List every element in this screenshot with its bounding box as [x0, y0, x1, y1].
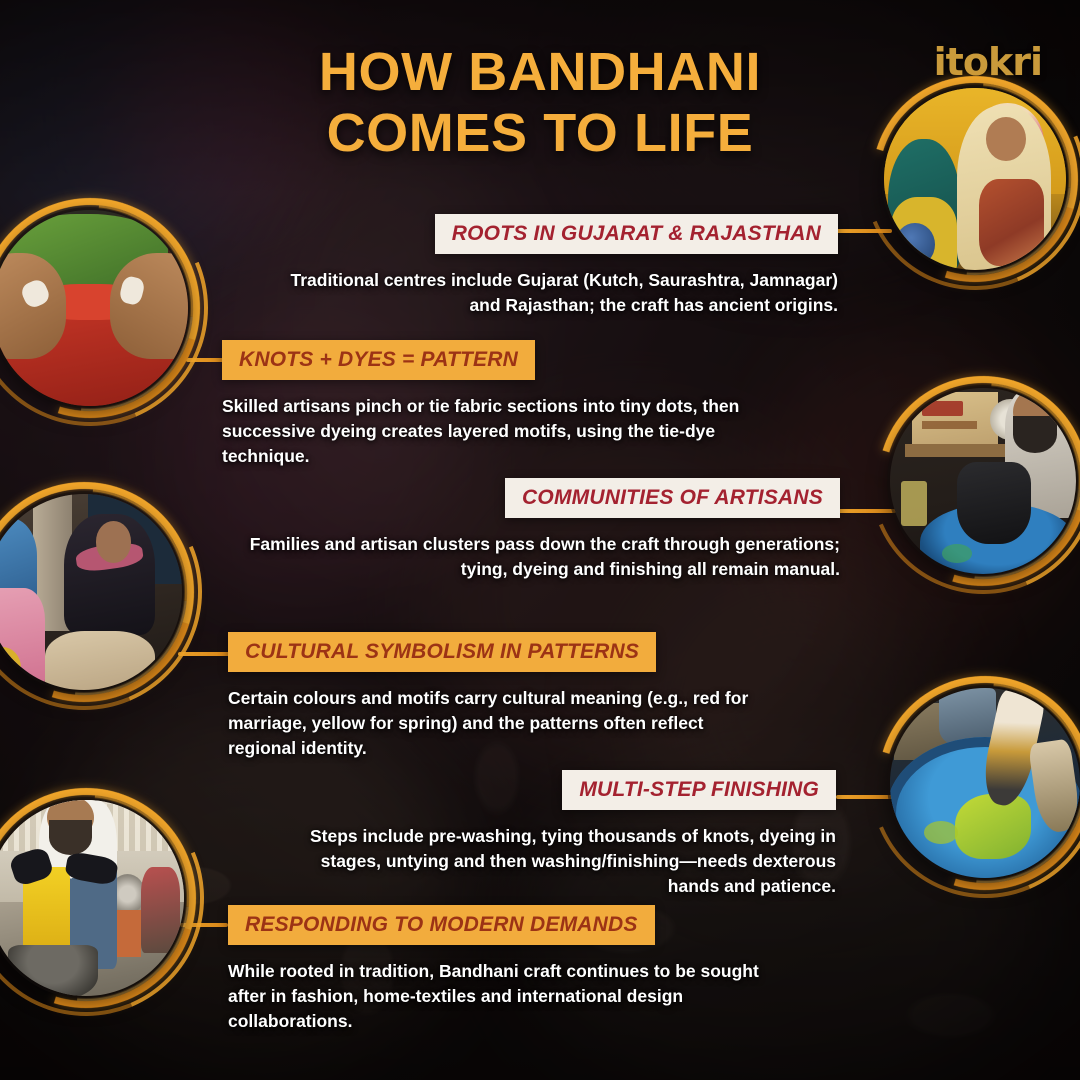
photo-disc: [0, 210, 188, 406]
section-tag-communities: COMMUNITIES OF ARTISANS: [505, 478, 840, 518]
page-title-line-1: HOW BANDHANI: [319, 42, 761, 102]
photo-image: [890, 388, 1076, 574]
photo-image: [890, 688, 1080, 878]
section-tag-finishing: MULTI-STEP FINISHING: [562, 770, 836, 810]
photo-women-tying-knots: [884, 88, 1066, 270]
section-body-finishing: Steps include pre-washing, tying thousan…: [300, 824, 836, 899]
photo-image: [884, 88, 1066, 270]
photo-image: [0, 800, 184, 996]
photo-disc: [890, 688, 1080, 878]
section-tag-symbolism: CULTURAL SYMBOLISM IN PATTERNS: [228, 632, 656, 672]
photo-hands-tying-red-fabric: [0, 210, 188, 406]
photo-disc: [0, 494, 182, 690]
section-body-symbolism: Certain colours and motifs carry cultura…: [228, 686, 776, 761]
connector-line-symbolism: [178, 652, 230, 656]
photo-image: [0, 494, 182, 690]
section-symbolism: CULTURAL SYMBOLISM IN PATTERNS Certain c…: [228, 632, 776, 761]
infographic-canvas: HOW BANDHANI COMES TO LIFE itokri: [0, 0, 1080, 1080]
section-roots: ROOTS IN GUJARAT & RAJASTHAN Traditional…: [270, 214, 838, 318]
section-tag-knots: KNOTS + DYES = PATTERN: [222, 340, 535, 380]
section-communities: COMMUNITIES OF ARTISANS Families and art…: [240, 478, 840, 582]
photo-disc: [884, 88, 1066, 270]
photo-disc: [890, 388, 1076, 574]
section-body-communities: Families and artisan clusters pass down …: [240, 532, 840, 582]
photo-lifting-yellow-fabric: [0, 800, 184, 996]
photo-image: [0, 210, 188, 406]
photo-women-artisans-shawls: [0, 494, 182, 690]
section-finishing: MULTI-STEP FINISHING Steps include pre-w…: [300, 770, 836, 899]
section-body-roots: Traditional centres include Gujarat (Kut…: [270, 268, 838, 318]
photo-indigo-vat: [890, 688, 1080, 878]
section-body-knots: Skilled artisans pinch or tie fabric sec…: [222, 394, 746, 469]
section-tag-modern: RESPONDING TO MODERN DEMANDS: [228, 905, 655, 945]
photo-disc: [0, 800, 184, 996]
section-knots: KNOTS + DYES = PATTERN Skilled artisans …: [222, 340, 746, 469]
section-body-modern: While rooted in tradition, Bandhani craf…: [228, 959, 788, 1034]
section-tag-roots: ROOTS IN GUJARAT & RAJASTHAN: [435, 214, 838, 254]
section-modern: RESPONDING TO MODERN DEMANDS While roote…: [228, 905, 788, 1034]
photo-dyeing-blue-tub: [890, 388, 1076, 574]
